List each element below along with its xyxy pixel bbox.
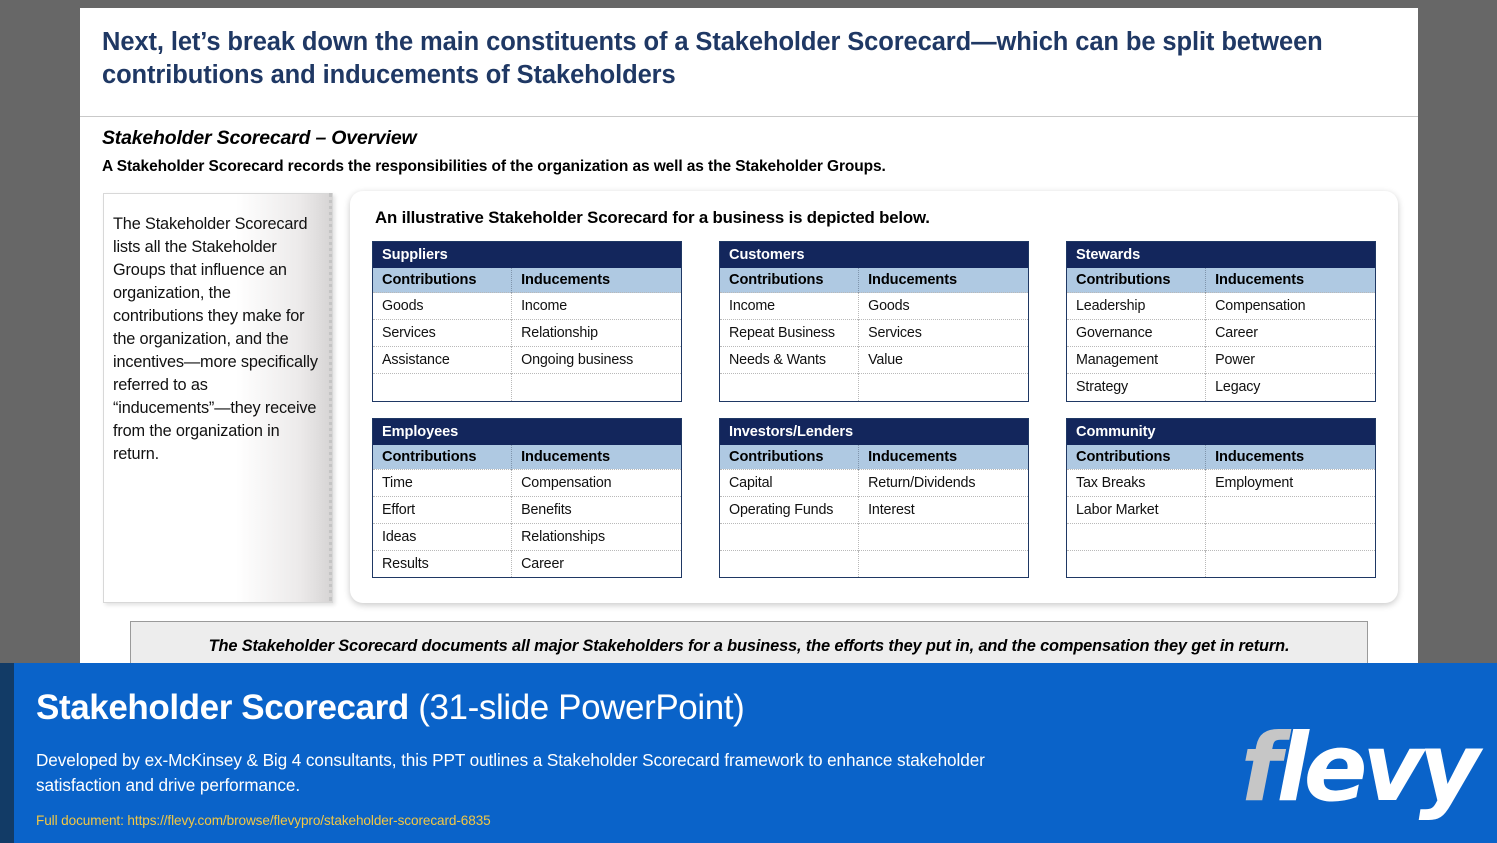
table-row bbox=[720, 550, 1028, 577]
column-header-inducements: Inducements bbox=[512, 268, 681, 293]
table-cell: Labor Market bbox=[1067, 496, 1206, 523]
table-cell bbox=[1206, 523, 1375, 550]
table-cell: Career bbox=[512, 550, 681, 577]
table-cell: Capital bbox=[720, 469, 859, 496]
table-cell: Goods bbox=[859, 293, 1028, 320]
banner-title: Stakeholder Scorecard (31-slide PowerPoi… bbox=[36, 688, 744, 728]
table-cell: Services bbox=[859, 320, 1028, 347]
scorecard-card: EmployeesContributionsInducementsTimeCom… bbox=[372, 418, 682, 579]
table-cell bbox=[1067, 550, 1206, 577]
table-cell: Return/Dividends bbox=[859, 469, 1028, 496]
banner-title-bold: Stakeholder Scorecard bbox=[36, 688, 409, 727]
table-cell: Operating Funds bbox=[720, 496, 859, 523]
table-row: ResultsCareer bbox=[373, 550, 681, 577]
table-header-row: ContributionsInducements bbox=[720, 268, 1028, 293]
table-row: CapitalReturn/Dividends bbox=[720, 469, 1028, 496]
table-row: Labor Market bbox=[1067, 496, 1375, 523]
table-cell bbox=[1206, 550, 1375, 577]
table-cell: Needs & Wants bbox=[720, 347, 859, 374]
banner-title-light: (31-slide PowerPoint) bbox=[409, 688, 745, 727]
table-cell: Tax Breaks bbox=[1067, 469, 1206, 496]
scorecard-card: CustomersContributionsInducementsIncomeG… bbox=[719, 241, 1029, 402]
column-header-contributions: Contributions bbox=[1067, 268, 1206, 293]
table-row bbox=[1067, 550, 1375, 577]
section-title: Stakeholder Scorecard – Overview bbox=[102, 127, 416, 150]
vertical-dotted-divider bbox=[329, 193, 332, 601]
card-title: Investors/Lenders bbox=[720, 419, 1028, 445]
column-header-inducements: Inducements bbox=[1206, 445, 1375, 470]
table-cell: Repeat Business bbox=[720, 320, 859, 347]
table-cell: Employment bbox=[1206, 469, 1375, 496]
table-row: IncomeGoods bbox=[720, 293, 1028, 320]
table-row: EffortBenefits bbox=[373, 496, 681, 523]
table-cell bbox=[720, 523, 859, 550]
table-cell: Benefits bbox=[512, 496, 681, 523]
table-cell bbox=[720, 550, 859, 577]
table-cell: Effort bbox=[373, 496, 512, 523]
column-header-inducements: Inducements bbox=[1206, 268, 1375, 293]
scorecard-card: Investors/LendersContributionsInducement… bbox=[719, 418, 1029, 579]
table-cell: Leadership bbox=[1067, 293, 1206, 320]
table-cell: Strategy bbox=[1067, 374, 1206, 401]
section-description: A Stakeholder Scorecard records the resp… bbox=[102, 158, 886, 176]
table-cell bbox=[1067, 523, 1206, 550]
table-cell bbox=[373, 374, 512, 401]
flevy-logo-levy: levy bbox=[1276, 714, 1475, 823]
header-divider bbox=[80, 116, 1418, 117]
table-cell: Career bbox=[1206, 320, 1375, 347]
table-row: Operating FundsInterest bbox=[720, 496, 1028, 523]
column-header-inducements: Inducements bbox=[859, 445, 1028, 470]
table-cell: Income bbox=[512, 293, 681, 320]
table-cell bbox=[512, 374, 681, 401]
table-row: StrategyLegacy bbox=[1067, 374, 1375, 401]
table-row: AssistanceOngoing business bbox=[373, 347, 681, 374]
table-cell: Services bbox=[373, 320, 512, 347]
column-header-inducements: Inducements bbox=[859, 268, 1028, 293]
table-cell: Relationship bbox=[512, 320, 681, 347]
table-cell: Relationships bbox=[512, 523, 681, 550]
table-cell bbox=[859, 374, 1028, 401]
card-title: Stewards bbox=[1067, 242, 1375, 268]
callout-text: The Stakeholder Scorecard documents all … bbox=[131, 622, 1367, 659]
table-cell: Results bbox=[373, 550, 512, 577]
screenshot-root: Next, let’s break down the main constitu… bbox=[0, 0, 1497, 843]
table-cell bbox=[859, 523, 1028, 550]
table-cell: Interest bbox=[859, 496, 1028, 523]
scorecard-card: SuppliersContributionsInducementsGoodsIn… bbox=[372, 241, 682, 402]
card-title: Customers bbox=[720, 242, 1028, 268]
table-cell: Ongoing business bbox=[512, 347, 681, 374]
table-row: Repeat BusinessServices bbox=[720, 320, 1028, 347]
card-title: Suppliers bbox=[373, 242, 681, 268]
banner-left-edge bbox=[0, 663, 14, 843]
table-cell: Governance bbox=[1067, 320, 1206, 347]
column-header-contributions: Contributions bbox=[373, 268, 512, 293]
column-header-contributions: Contributions bbox=[720, 445, 859, 470]
table-row bbox=[373, 374, 681, 401]
card-title: Employees bbox=[373, 419, 681, 445]
table-header-row: ContributionsInducements bbox=[373, 268, 681, 293]
table-row bbox=[720, 523, 1028, 550]
table-cell: Time bbox=[373, 469, 512, 496]
table-row: ServicesRelationship bbox=[373, 320, 681, 347]
column-header-contributions: Contributions bbox=[720, 268, 859, 293]
scorecard-panel: An illustrative Stakeholder Scorecard fo… bbox=[350, 191, 1398, 603]
table-cell: Ideas bbox=[373, 523, 512, 550]
column-header-contributions: Contributions bbox=[373, 445, 512, 470]
table-cell: Assistance bbox=[373, 347, 512, 374]
table-cell bbox=[1206, 496, 1375, 523]
flevy-logo-f: f bbox=[1241, 714, 1277, 823]
card-title: Community bbox=[1067, 419, 1375, 445]
banner-document-link[interactable]: Full document: https://flevy.com/browse/… bbox=[36, 813, 491, 828]
table-cell: Income bbox=[720, 293, 859, 320]
table-row: IdeasRelationships bbox=[373, 523, 681, 550]
table-row bbox=[1067, 523, 1375, 550]
table-row bbox=[720, 374, 1028, 401]
table-row: LeadershipCompensation bbox=[1067, 293, 1375, 320]
table-cell bbox=[720, 374, 859, 401]
commentary-text: The Stakeholder Scorecard lists all the … bbox=[104, 194, 332, 466]
flevy-logo: flevy bbox=[1241, 722, 1475, 816]
table-row: GoodsIncome bbox=[373, 293, 681, 320]
table-header-row: ContributionsInducements bbox=[373, 445, 681, 470]
table-row: Tax BreaksEmployment bbox=[1067, 469, 1375, 496]
table-cell: Power bbox=[1206, 347, 1375, 374]
table-header-row: ContributionsInducements bbox=[1067, 268, 1375, 293]
table-row: Needs & WantsValue bbox=[720, 347, 1028, 374]
table-cell bbox=[859, 550, 1028, 577]
commentary-box: The Stakeholder Scorecard lists all the … bbox=[103, 193, 333, 603]
scorecard-grid: SuppliersContributionsInducementsGoodsIn… bbox=[372, 241, 1376, 578]
scorecard-card: StewardsContributionsInducementsLeadersh… bbox=[1066, 241, 1376, 402]
table-cell: Value bbox=[859, 347, 1028, 374]
table-header-row: ContributionsInducements bbox=[1067, 445, 1375, 470]
table-cell: Management bbox=[1067, 347, 1206, 374]
table-cell: Goods bbox=[373, 293, 512, 320]
column-header-inducements: Inducements bbox=[512, 445, 681, 470]
table-row: TimeCompensation bbox=[373, 469, 681, 496]
column-header-contributions: Contributions bbox=[1067, 445, 1206, 470]
table-header-row: ContributionsInducements bbox=[720, 445, 1028, 470]
table-row: GovernanceCareer bbox=[1067, 320, 1375, 347]
table-cell: Legacy bbox=[1206, 374, 1375, 401]
panel-title: An illustrative Stakeholder Scorecard fo… bbox=[375, 208, 930, 228]
table-row: ManagementPower bbox=[1067, 347, 1375, 374]
scorecard-card: CommunityContributionsInducementsTax Bre… bbox=[1066, 418, 1376, 579]
table-cell: Compensation bbox=[512, 469, 681, 496]
table-cell: Compensation bbox=[1206, 293, 1375, 320]
slide-sheet: Next, let’s break down the main constitu… bbox=[80, 8, 1418, 678]
banner-description: Developed by ex-McKinsey & Big 4 consult… bbox=[36, 748, 1066, 799]
slide-title: Next, let’s break down the main constitu… bbox=[102, 26, 1398, 91]
